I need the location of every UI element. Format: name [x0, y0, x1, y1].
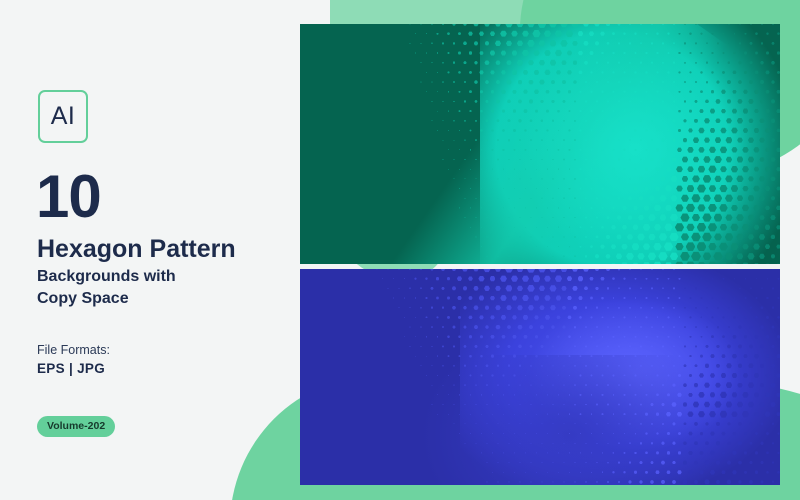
page-title: Hexagon Pattern: [37, 236, 236, 264]
file-formats-value: EPS | JPG: [37, 361, 105, 376]
preview-blue-artwork: [300, 269, 780, 485]
page-subtitle-line: Copy Space: [37, 288, 277, 310]
file-formats-label: File Formats:: [37, 343, 110, 357]
blue-halftone-hexagons: [300, 269, 780, 485]
poster-canvas: AI 10 Hexagon Pattern Backgrounds withCo…: [0, 0, 800, 500]
hexagon-pattern-preview-blue[interactable]: [300, 269, 780, 485]
page-subtitle: Backgrounds withCopy Space: [37, 266, 277, 309]
info-panel: AI 10 Hexagon Pattern Backgrounds withCo…: [0, 0, 300, 500]
adobe-illustrator-badge: AI: [38, 90, 88, 143]
ai-badge-label: AI: [51, 104, 76, 129]
green-halftone-hexagons: [300, 24, 780, 264]
volume-badge: Volume-202: [37, 416, 115, 437]
preview-green-artwork: [300, 24, 780, 264]
page-subtitle-line: Backgrounds with: [37, 266, 277, 288]
item-count: 10: [36, 167, 101, 227]
hexagon-pattern-preview-green[interactable]: [300, 24, 780, 264]
